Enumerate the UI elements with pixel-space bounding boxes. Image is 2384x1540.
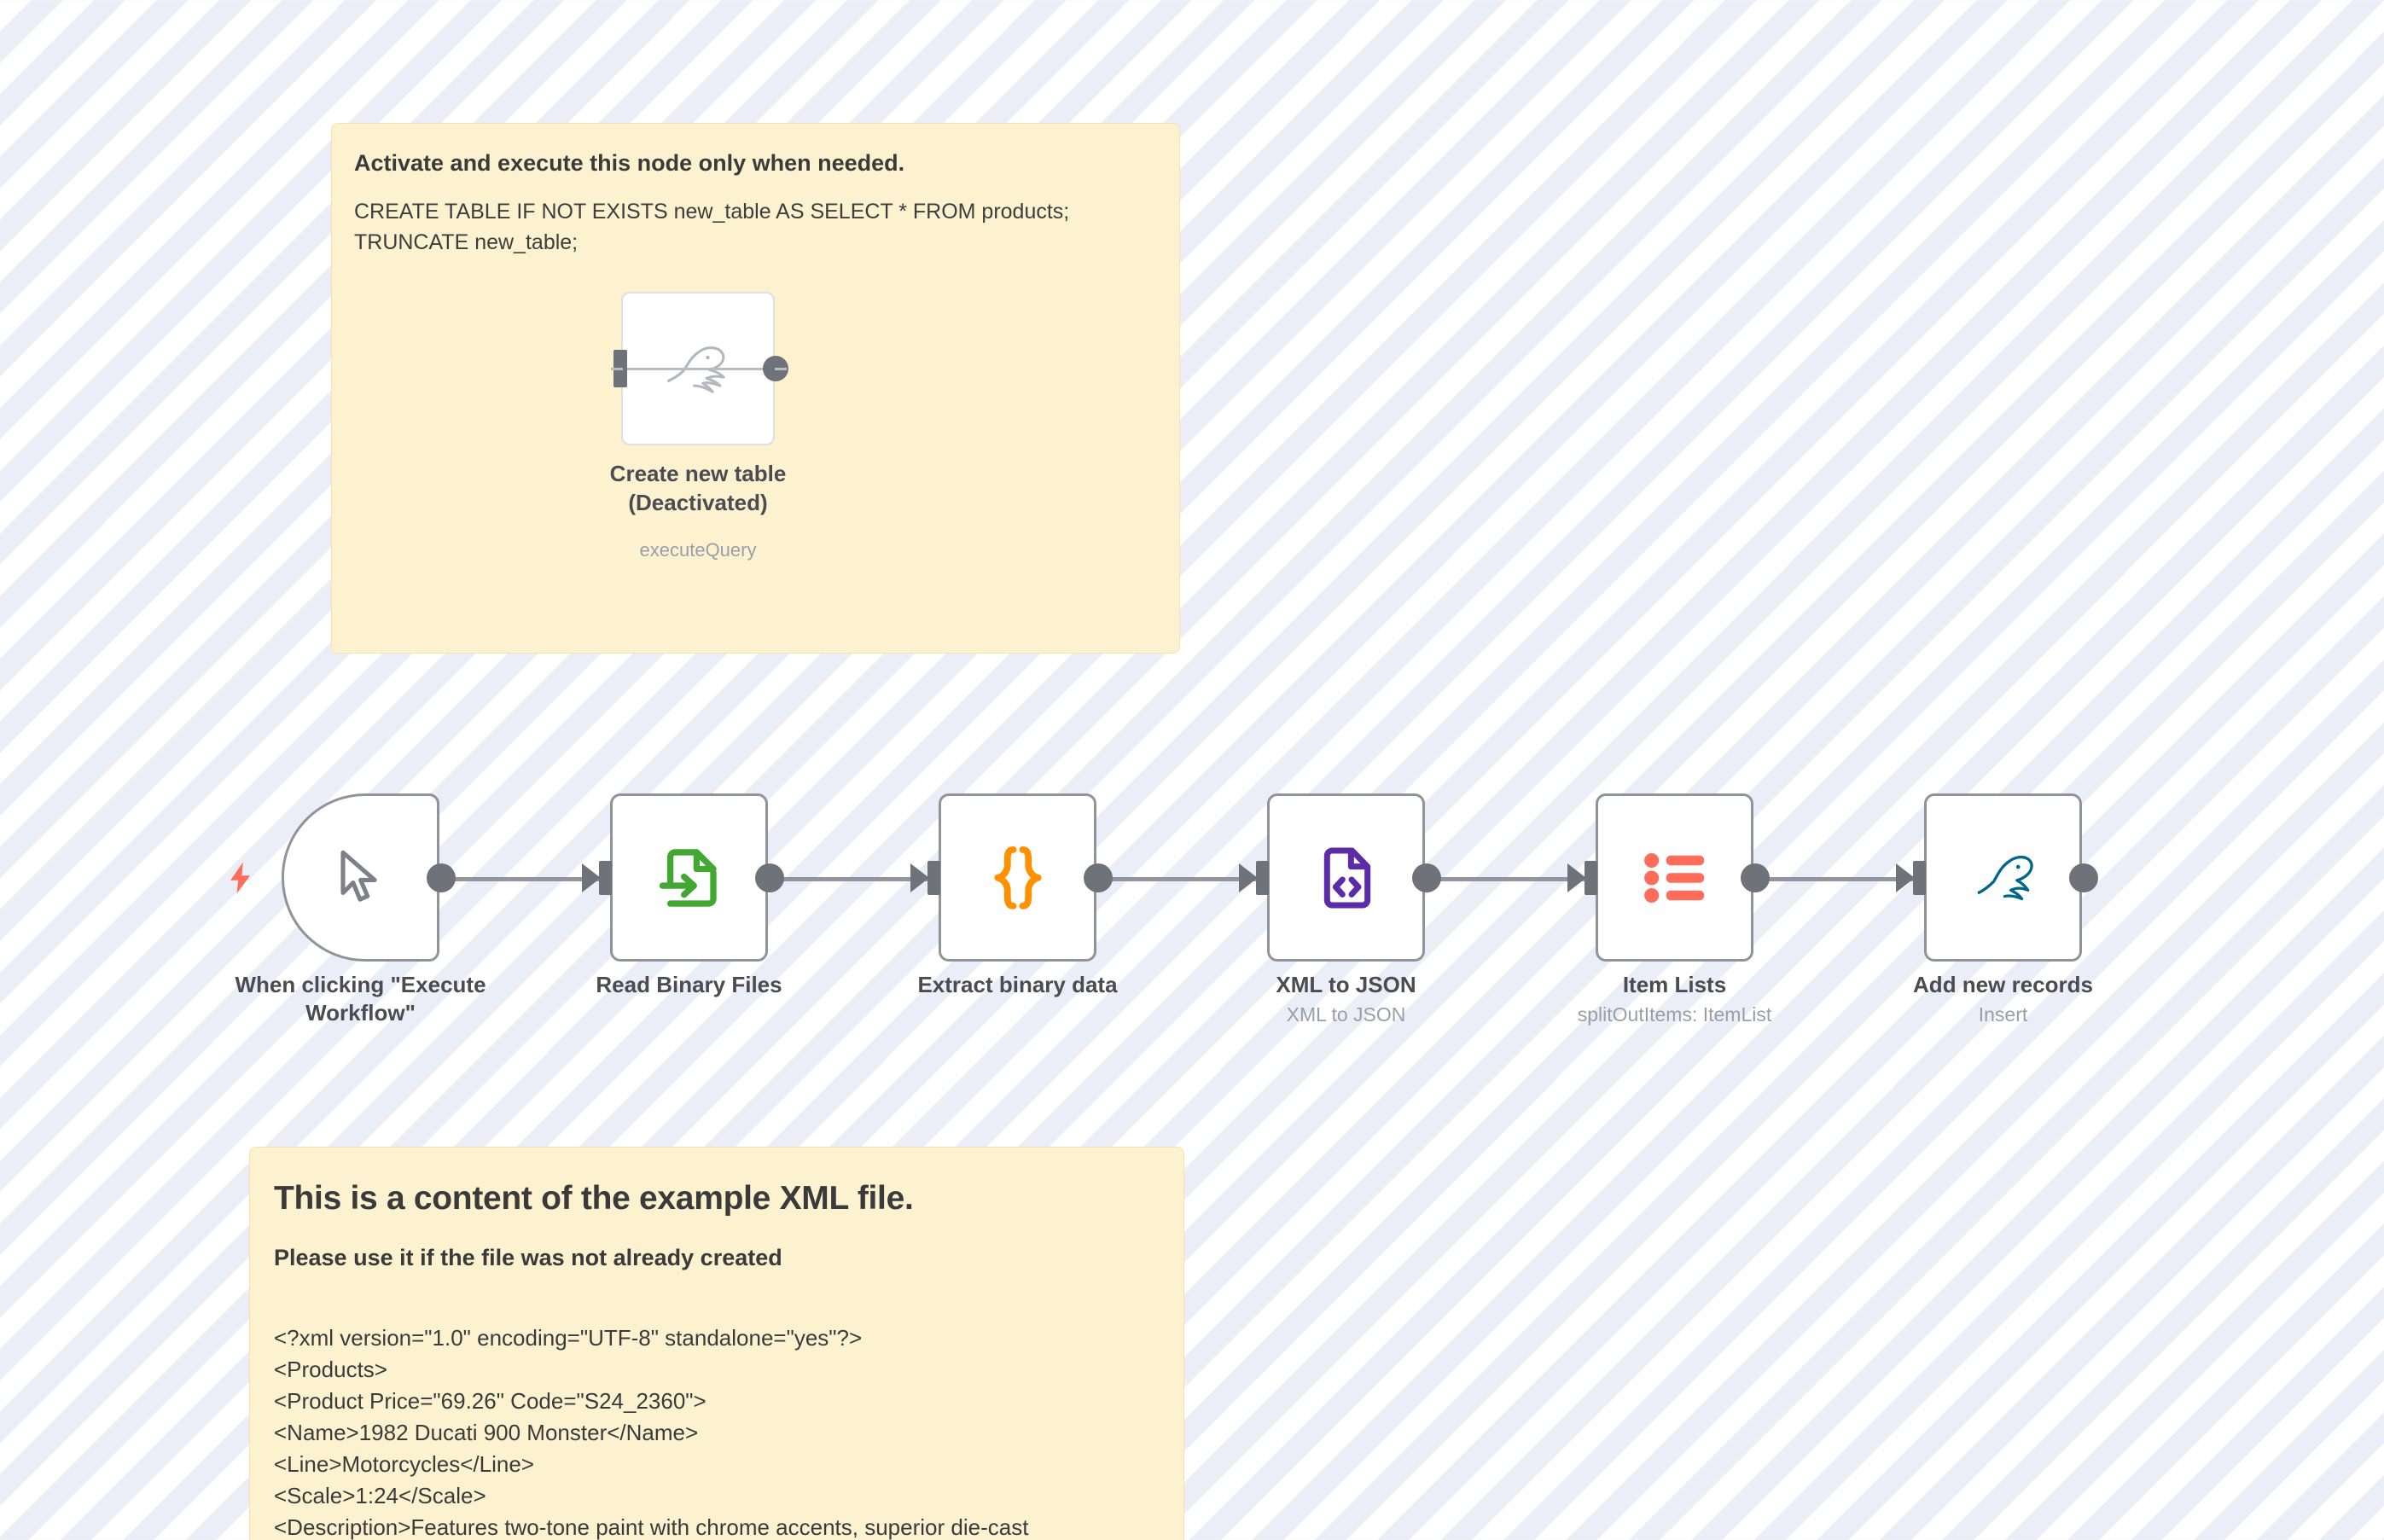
- curly-braces-icon: [983, 840, 1053, 915]
- node-xml-to-json[interactable]: XML to JSON XML to JSON: [1267, 793, 1425, 962]
- node-label-trigger: When clicking "Execute Workflow": [203, 971, 519, 1028]
- node-subtitle-create-new-table: executeQuery: [640, 539, 757, 561]
- node-item-lists[interactable]: Item Lists splitOutItems: ItemList: [1596, 793, 1753, 962]
- sticky-note-bottom-body: <?xml version="1.0" encoding="UTF-8" sta…: [274, 1322, 1160, 1540]
- node-read-binary-files-box[interactable]: [610, 793, 768, 962]
- node-extract-binary-data-box[interactable]: [939, 793, 1096, 962]
- node-xml-to-json-box[interactable]: [1267, 793, 1425, 962]
- node-label-add-new-records: Add new records: [1913, 971, 2093, 999]
- node-add-new-records[interactable]: Add new records Insert: [1924, 793, 2082, 962]
- node-input-arrow-icon: [582, 863, 601, 892]
- node-trigger-box[interactable]: [282, 793, 439, 962]
- node-output-endpoint[interactable]: [427, 863, 456, 892]
- node-input-arrow-icon: [1896, 863, 1915, 892]
- deactivated-strikethrough-left: [611, 368, 623, 370]
- node-extract-binary-data[interactable]: Extract binary data: [939, 793, 1096, 962]
- node-label-xml-to-json: XML to JSON: [1276, 971, 1416, 999]
- node-label-read-binary-files: Read Binary Files: [596, 971, 782, 999]
- mysql-dolphin-icon: [1964, 839, 2043, 917]
- node-read-binary-files[interactable]: Read Binary Files: [610, 793, 768, 962]
- node-subtitle-add-new-records: Insert: [1979, 1003, 2028, 1026]
- node-output-endpoint[interactable]: [1412, 863, 1441, 892]
- node-label-create-new-table: Create new table (Deactivated): [561, 459, 834, 518]
- node-create-new-table[interactable]: Create new table (Deactivated) executeQu…: [621, 292, 775, 445]
- node-add-new-records-box[interactable]: [1924, 793, 2082, 962]
- sticky-note-bottom-title: This is a content of the example XML fil…: [274, 1177, 1160, 1222]
- node-subtitle-xml-to-json: XML to JSON: [1287, 1003, 1406, 1026]
- node-output-endpoint[interactable]: [2069, 863, 2098, 892]
- workflow-canvas[interactable]: Activate and execute this node only when…: [0, 0, 2384, 1540]
- node-output-endpoint[interactable]: [1084, 863, 1113, 892]
- mouse-pointer-icon: [325, 842, 397, 914]
- node-input-endpoint[interactable]: [1256, 861, 1269, 895]
- bullet-list-icon: [1640, 848, 1710, 908]
- node-subtitle-item-lists: splitOutItems: ItemList: [1578, 1003, 1772, 1026]
- sticky-note-top-body: CREATE TABLE IF NOT EXISTS new_table AS …: [354, 197, 1157, 258]
- sticky-note-bottom-subtitle: Please use it if the file was not alread…: [274, 1242, 1160, 1273]
- sticky-note-bottom[interactable]: This is a content of the example XML fil…: [249, 1147, 1184, 1540]
- node-input-endpoint[interactable]: [1584, 861, 1597, 895]
- file-code-icon: [1312, 844, 1381, 912]
- node-label-extract-binary-data: Extract binary data: [917, 971, 1117, 999]
- lightning-bolt-icon: [222, 857, 259, 898]
- node-output-endpoint[interactable]: [1741, 863, 1770, 892]
- node-input-arrow-icon: [1239, 863, 1258, 892]
- node-output-endpoint[interactable]: [755, 863, 784, 892]
- node-label-item-lists: Item Lists: [1623, 971, 1726, 999]
- node-input-endpoint[interactable]: [1913, 861, 1926, 895]
- deactivated-strikethrough-right: [775, 368, 787, 370]
- sticky-note-top-title: Activate and execute this node only when…: [354, 148, 1157, 178]
- file-import-icon: [654, 842, 725, 914]
- node-input-arrow-icon: [910, 863, 929, 892]
- node-create-new-table-box[interactable]: [621, 292, 775, 445]
- node-item-lists-box[interactable]: [1596, 793, 1753, 962]
- node-when-clicking-execute-workflow[interactable]: When clicking "Execute Workflow": [282, 793, 439, 962]
- node-input-endpoint[interactable]: [927, 861, 940, 895]
- node-input-endpoint[interactable]: [599, 861, 612, 895]
- deactivated-strikethrough: [623, 368, 773, 370]
- node-input-arrow-icon: [1567, 863, 1586, 892]
